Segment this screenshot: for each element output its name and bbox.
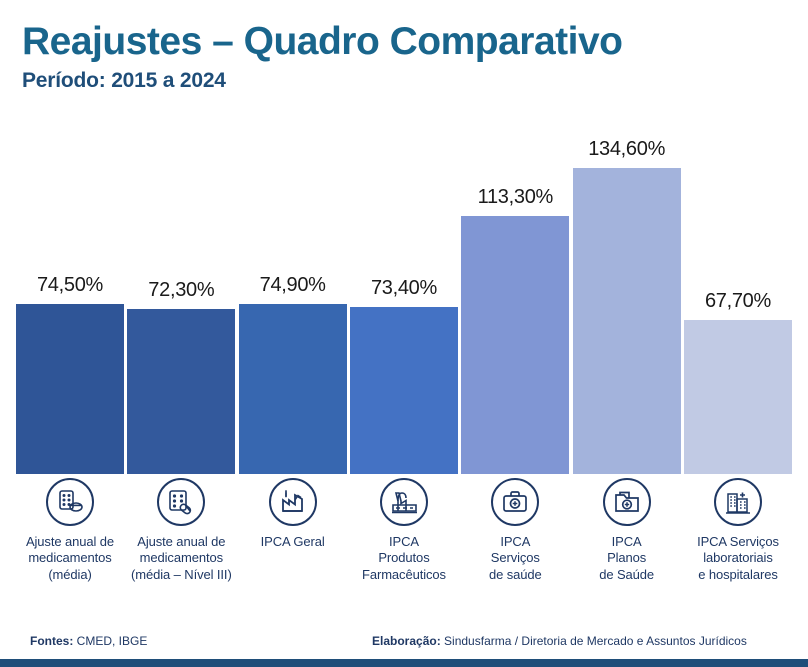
category-cell: Ajuste anual de medicamentos (média – Ní… [127, 478, 235, 583]
category-cell: IPCA Geral [239, 478, 347, 583]
footer-sources: Fontes: CMED, IBGE [30, 634, 147, 648]
slide-footer: Fontes: CMED, IBGE Elaboração: Sindusfar… [0, 627, 808, 667]
bar-column[interactable]: 73,40% [350, 108, 458, 474]
bar-column[interactable]: 74,90% [239, 108, 347, 474]
category-cell: IPCA Produtos Farmacêuticos [350, 478, 458, 583]
bar-value-label: 72,30% [148, 279, 214, 302]
bar-value-label: 134,60% [588, 138, 665, 161]
footer-author: Elaboração: Sindusfarma / Diretoria de M… [372, 634, 747, 648]
category-cell: IPCA Serviços laboratoriais e hospitalar… [684, 478, 792, 583]
category-label: Ajuste anual de medicamentos (média – Ní… [131, 534, 232, 583]
bar-column[interactable]: 134,60% [573, 108, 681, 474]
bar-rect[interactable] [16, 304, 124, 474]
page-title: Reajustes – Quadro Comparativo [22, 22, 788, 63]
factory-icon [380, 478, 428, 526]
bar-value-label: 74,90% [260, 274, 326, 297]
bar-value-label: 74,50% [37, 274, 103, 297]
footer-author-value: Sindusfarma / Diretoria de Mercado e Ass… [441, 634, 747, 648]
slide-header: Reajustes – Quadro Comparativo Período: … [22, 22, 788, 93]
category-label: IPCA Geral [261, 534, 325, 550]
footer-accent-bar [0, 659, 808, 667]
category-label: IPCA Serviços de saúde [489, 534, 542, 583]
bar-rect[interactable] [461, 216, 569, 474]
bar-chart: 74,50%72,30%74,90%73,40%113,30%134,60%67… [16, 108, 792, 474]
bar-column[interactable]: 113,30% [461, 108, 569, 474]
category-label: IPCA Produtos Farmacêuticos [362, 534, 446, 583]
bar-rect[interactable] [573, 168, 681, 474]
bar-series: 74,50%72,30%74,90%73,40%113,30%134,60%67… [16, 108, 792, 474]
factory-chart-icon [269, 478, 317, 526]
category-label: Ajuste anual de medicamentos (média) [26, 534, 114, 583]
bar-rect[interactable] [239, 304, 347, 474]
slide-canvas: Reajustes – Quadro Comparativo Período: … [0, 0, 808, 667]
health-plan-folder-icon [603, 478, 651, 526]
blister-pack-capsule-icon [157, 478, 205, 526]
footer-sources-value: CMED, IBGE [73, 634, 147, 648]
category-cell: IPCA Serviços de saúde [461, 478, 569, 583]
page-subtitle: Período: 2015 a 2024 [22, 69, 788, 93]
bar-value-label: 73,40% [371, 277, 437, 300]
bar-column[interactable]: 74,50% [16, 108, 124, 474]
category-cell: IPCA Planos de Saúde [573, 478, 681, 583]
bar-value-label: 113,30% [478, 186, 553, 209]
category-cell: Ajuste anual de medicamentos (média) [16, 478, 124, 583]
bar-rect[interactable] [127, 309, 235, 474]
hospital-building-icon [714, 478, 762, 526]
bar-value-label: 67,70% [705, 290, 771, 313]
bar-column[interactable]: 72,30% [127, 108, 235, 474]
footer-sources-label: Fontes: [30, 634, 73, 648]
category-label: IPCA Serviços laboratoriais e hospitalar… [697, 534, 779, 583]
bar-column[interactable]: 67,70% [684, 108, 792, 474]
bar-rect[interactable] [350, 307, 458, 474]
medical-kit-icon [491, 478, 539, 526]
category-label: IPCA Planos de Saúde [599, 534, 654, 583]
footer-author-label: Elaboração: [372, 634, 441, 648]
blister-pack-pills-icon [46, 478, 94, 526]
category-axis: Ajuste anual de medicamentos (média) Aju… [16, 478, 792, 583]
bar-rect[interactable] [684, 320, 792, 474]
